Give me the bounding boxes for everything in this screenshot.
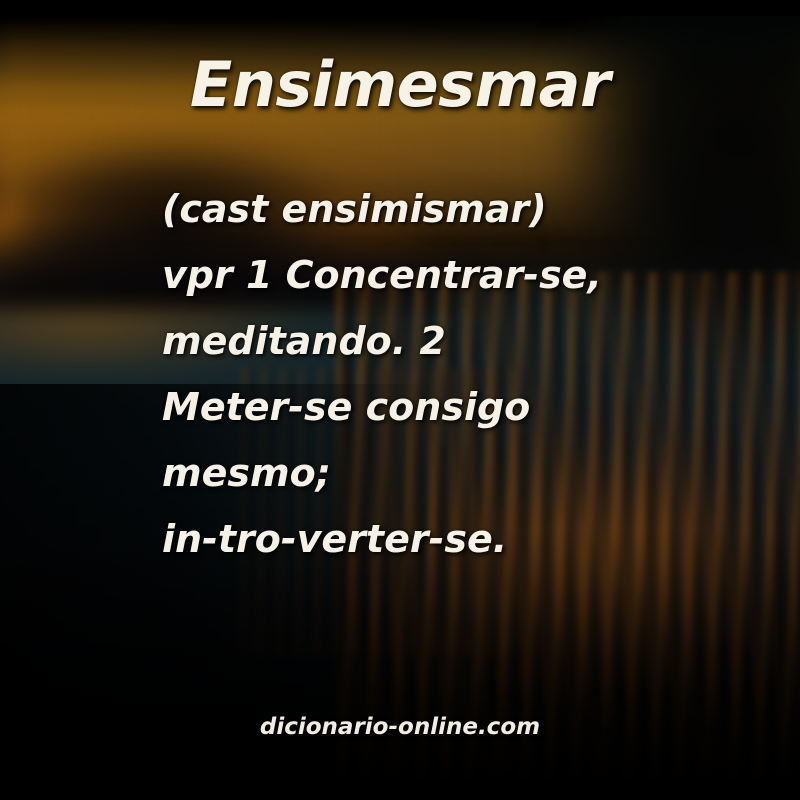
definition-card: Ensimesmar (cast ensimismar) vpr 1 Conce… <box>0 0 800 800</box>
site-watermark: dicionario-online.com <box>0 714 800 740</box>
headword-title: Ensimesmar <box>0 52 800 117</box>
card-content: Ensimesmar (cast ensimismar) vpr 1 Conce… <box>0 0 800 800</box>
definition-line: mesmo; <box>162 440 682 506</box>
definition-line: vpr 1 Concentrar-se, <box>162 242 682 308</box>
definition-line: Meter-se consigo <box>162 374 682 440</box>
definition-line: (cast ensimismar) <box>162 176 682 242</box>
definition-line: in-tro-verter-se. <box>162 506 682 572</box>
definition-line: meditando. 2 <box>162 308 682 374</box>
definition-text: (cast ensimismar) vpr 1 Concentrar-se, m… <box>162 176 682 572</box>
